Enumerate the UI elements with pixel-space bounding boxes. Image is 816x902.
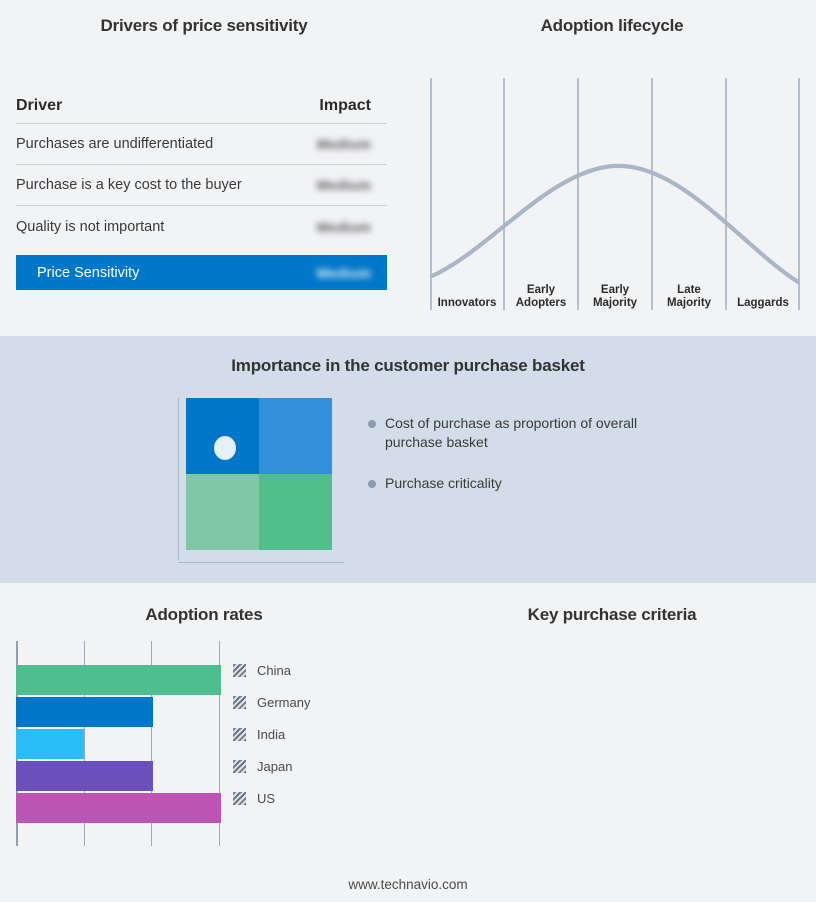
bar-row: [16, 761, 221, 791]
stage-line2: Majority: [578, 297, 652, 310]
adoption-rates-legend: ChinaGermanyIndiaJapanUS: [233, 655, 310, 813]
adoption-rates-title: Adoption rates: [0, 605, 408, 625]
bullet-icon: [368, 420, 376, 428]
stage-line1: Early: [504, 284, 578, 297]
legend-item[interactable]: US: [233, 783, 310, 813]
impact-value: Medium: [317, 219, 387, 235]
table-row: Purchases are undifferentiated Medium: [16, 124, 387, 165]
matrix-y-axis: [178, 398, 179, 560]
footer-url: www.technavio.com: [0, 877, 816, 892]
bar-japan: [16, 761, 153, 791]
impact-value: Medium: [317, 177, 387, 193]
bar-row: [16, 729, 221, 759]
table-row: Purchase is a key cost to the buyer Medi…: [16, 165, 387, 206]
summary-label: Price Sensitivity: [37, 265, 139, 281]
bar-series: [16, 641, 221, 846]
quadrant-bottom-right: [259, 474, 332, 550]
top-section: Drivers of price sensitivity Driver Impa…: [0, 0, 816, 336]
purchase-criteria-title: Key purchase criteria: [408, 605, 816, 625]
legend-item: Purchase criticality: [368, 474, 698, 493]
bullet-icon: [368, 480, 376, 488]
drivers-panel: Drivers of price sensitivity Driver Impa…: [0, 0, 408, 336]
lifecycle-stage-labels: Innovators Early Adopters Early Majority…: [430, 272, 800, 312]
bar-china: [16, 665, 221, 695]
stage-label-late-majority: Late Majority: [652, 284, 726, 312]
driver-label: Purchase is a key cost to the buyer: [16, 177, 242, 193]
legend-label: Cost of purchase as proportion of overal…: [385, 414, 655, 452]
summary-impact-value: Medium: [317, 265, 387, 281]
bar-row: [16, 697, 221, 727]
bottom-section: Adoption rates ChinaGermanyIndiaJapanUS …: [0, 583, 816, 902]
bar-row: [16, 793, 221, 823]
bar-row: [16, 665, 221, 695]
stage-label-innovators: Innovators: [430, 297, 504, 312]
drivers-table: Driver Impact Purchases are undifferenti…: [16, 88, 387, 290]
table-header-row: Driver Impact: [16, 88, 387, 124]
legend-item[interactable]: Japan: [233, 751, 310, 781]
legend-swatch-icon: [233, 728, 246, 741]
stage-label-early-majority: Early Majority: [578, 284, 652, 312]
legend-item[interactable]: India: [233, 719, 310, 749]
drivers-title: Drivers of price sensitivity: [0, 16, 408, 36]
matrix-position-marker: [214, 436, 236, 460]
legend-label: Germany: [257, 695, 310, 710]
matrix-x-axis: [178, 562, 344, 563]
legend-item[interactable]: China: [233, 655, 310, 685]
legend-label: US: [257, 791, 275, 806]
stage-label-early-adopters: Early Adopters: [504, 284, 578, 312]
quadrant-matrix: [178, 398, 344, 563]
purchase-basket-section: Importance in the customer purchase bask…: [0, 336, 816, 583]
quadrant-top-right: [259, 398, 332, 474]
column-header-impact: Impact: [319, 97, 387, 115]
legend-label: Purchase criticality: [385, 474, 502, 493]
bar-germany: [16, 697, 153, 727]
legend-swatch-icon: [233, 792, 246, 805]
driver-label: Purchases are undifferentiated: [16, 136, 213, 152]
legend-label: China: [257, 663, 291, 678]
table-row: Quality is not important Medium: [16, 206, 387, 247]
stage-line2: Adopters: [504, 297, 578, 310]
purchase-criteria-panel: Key purchase criteria InnovationPriceQua…: [408, 583, 816, 902]
bar-us: [16, 793, 221, 823]
stage-line2: Innovators: [430, 297, 504, 310]
legend-swatch-icon: [233, 696, 246, 709]
legend-swatch-icon: [233, 664, 246, 677]
lifecycle-panel: Adoption lifecycle Innovators Early: [408, 0, 816, 336]
stage-line2: Majority: [652, 297, 726, 310]
basket-legend: Cost of purchase as proportion of overal…: [368, 414, 698, 515]
impact-value: Medium: [317, 136, 387, 152]
legend-swatch-icon: [233, 760, 246, 773]
lifecycle-title: Adoption lifecycle: [408, 16, 816, 36]
legend-item: Cost of purchase as proportion of overal…: [368, 414, 698, 452]
stage-label-laggards: Laggards: [726, 297, 800, 312]
quadrant-bottom-left: [186, 474, 259, 550]
legend-item[interactable]: Germany: [233, 687, 310, 717]
adoption-rates-panel: Adoption rates ChinaGermanyIndiaJapanUS: [0, 583, 408, 902]
stage-line1: Early: [578, 284, 652, 297]
legend-label: India: [257, 727, 285, 742]
adoption-curve: [432, 166, 798, 282]
matrix-quadrants: [186, 398, 332, 550]
adoption-rates-chart: [16, 641, 221, 846]
driver-label: Quality is not important: [16, 219, 164, 235]
column-header-driver: Driver: [16, 97, 62, 115]
legend-label: Japan: [257, 759, 292, 774]
stage-line1: Late: [652, 284, 726, 297]
price-sensitivity-summary-row: Price Sensitivity Medium: [16, 255, 387, 290]
bar-india: [16, 729, 84, 759]
stage-line2: Laggards: [726, 297, 800, 310]
basket-title: Importance in the customer purchase bask…: [0, 356, 816, 376]
